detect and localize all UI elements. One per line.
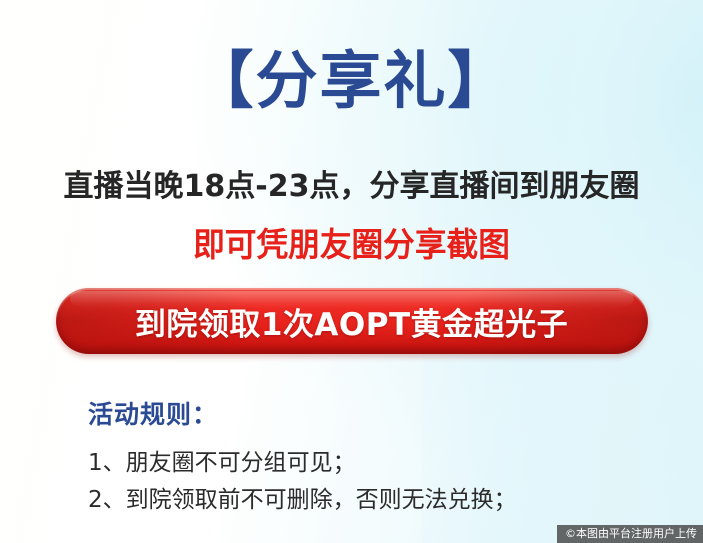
cta-container: 到院领取1次AOPT黄金超光子 <box>56 288 648 354</box>
subtitle-condition: 直播当晚18点-23点，分享直播间到朋友圈 <box>0 168 703 206</box>
watermark-label: ©本图由平台注册用户上传 <box>557 525 703 543</box>
list-item: 1、朋友圈不可分组可见； <box>88 445 517 482</box>
poster-content: 【分享礼】 直播当晚18点-23点，分享直播间到朋友圈 即可凭朋友圈分享截图 到… <box>0 0 703 543</box>
rules-heading: 活动规则： <box>88 395 218 431</box>
rules-list: 1、朋友圈不可分组可见； 2、到院领取前不可删除，否则无法兑换； <box>88 445 517 520</box>
subtitle-highlight: 即可凭朋友圈分享截图 <box>14 225 689 265</box>
page-title: 【分享礼】 <box>0 50 703 112</box>
claim-reward-button[interactable]: 到院领取1次AOPT黄金超光子 <box>56 288 648 354</box>
list-item: 2、到院领取前不可删除，否则无法兑换； <box>88 482 517 519</box>
promo-poster: 【分享礼】 直播当晚18点-23点，分享直播间到朋友圈 即可凭朋友圈分享截图 到… <box>0 0 703 543</box>
claim-reward-button-label: 到院领取1次AOPT黄金超光子 <box>135 299 568 344</box>
